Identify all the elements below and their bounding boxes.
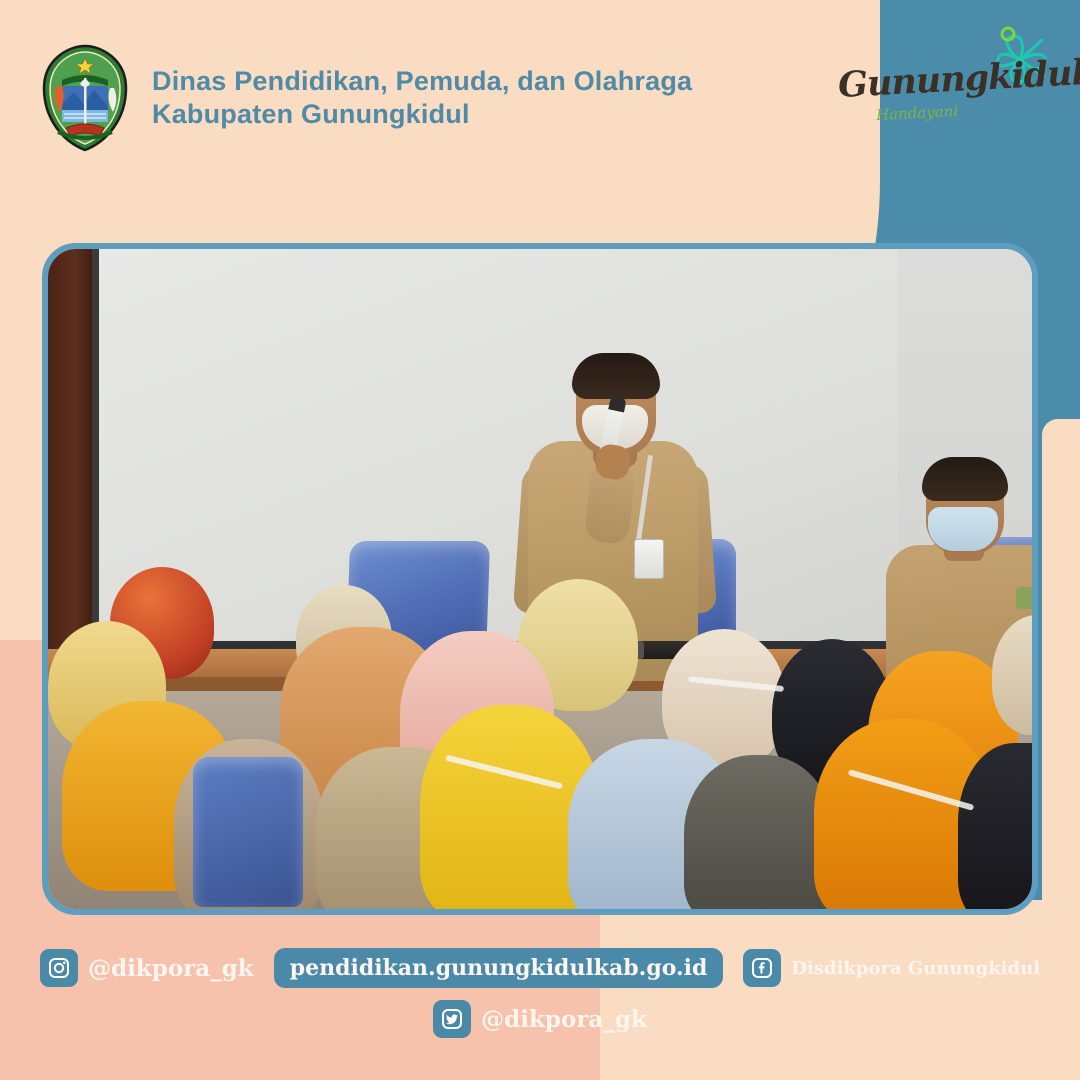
projection-screen bbox=[98, 249, 898, 649]
instagram-handle: @dikpora_gk bbox=[88, 955, 254, 982]
page-title-line-2: Kabupaten Gunungkidul bbox=[152, 98, 692, 131]
speaker-hair bbox=[572, 353, 660, 399]
audience-head bbox=[684, 755, 834, 909]
facebook-page-name: Disdikpora Gunungkidul bbox=[791, 958, 1040, 979]
website-url: pendidikan.gunungkidulkab.go.id bbox=[290, 955, 708, 981]
instagram-icon[interactable] bbox=[40, 949, 78, 987]
website-pill[interactable]: pendidikan.gunungkidulkab.go.id bbox=[274, 948, 724, 988]
seated-official-hair bbox=[922, 457, 1008, 501]
event-photo-card bbox=[42, 243, 1038, 915]
event-photo bbox=[48, 249, 1032, 909]
twitter-icon[interactable] bbox=[433, 1000, 471, 1038]
social-row-primary: @dikpora_gk pendidikan.gunungkidulkab.go… bbox=[0, 948, 1080, 988]
speaker-id-badge bbox=[634, 539, 664, 579]
seated-official-shoulder-patch bbox=[1016, 587, 1032, 609]
twitter-handle: @dikpora_gk bbox=[481, 1006, 647, 1033]
twitter-link[interactable]: @dikpora_gk bbox=[433, 1000, 647, 1038]
social-bar: @dikpora_gk pendidikan.gunungkidulkab.go… bbox=[0, 948, 1080, 1038]
gunungkidul-brand-logo: Gunungkidul Handayani bbox=[838, 26, 1058, 136]
page-title-line-1: Dinas Pendidikan, Pemuda, dan Olahraga bbox=[152, 65, 692, 98]
background-peach-right-column bbox=[1042, 419, 1080, 979]
brand-tagline: Handayani bbox=[876, 102, 959, 124]
chair bbox=[193, 757, 303, 907]
brand-wordmark: Gunungkidul bbox=[837, 55, 1029, 106]
facebook-link[interactable]: Disdikpora Gunungkidul bbox=[743, 949, 1040, 987]
poster-canvas: Dinas Pendidikan, Pemuda, dan Olahraga K… bbox=[0, 0, 1080, 1080]
header: Dinas Pendidikan, Pemuda, dan Olahraga K… bbox=[40, 44, 692, 152]
instagram-link[interactable]: @dikpora_gk bbox=[40, 949, 254, 987]
wood-panel-left bbox=[48, 249, 94, 651]
social-row-secondary: @dikpora_gk bbox=[0, 1000, 1080, 1038]
screen-frame-left bbox=[92, 249, 99, 649]
seated-official-face-mask bbox=[928, 507, 998, 551]
header-title-block: Dinas Pendidikan, Pemuda, dan Olahraga K… bbox=[152, 65, 692, 131]
gunungkidul-regency-crest-icon bbox=[40, 44, 130, 152]
facebook-icon[interactable] bbox=[743, 949, 781, 987]
